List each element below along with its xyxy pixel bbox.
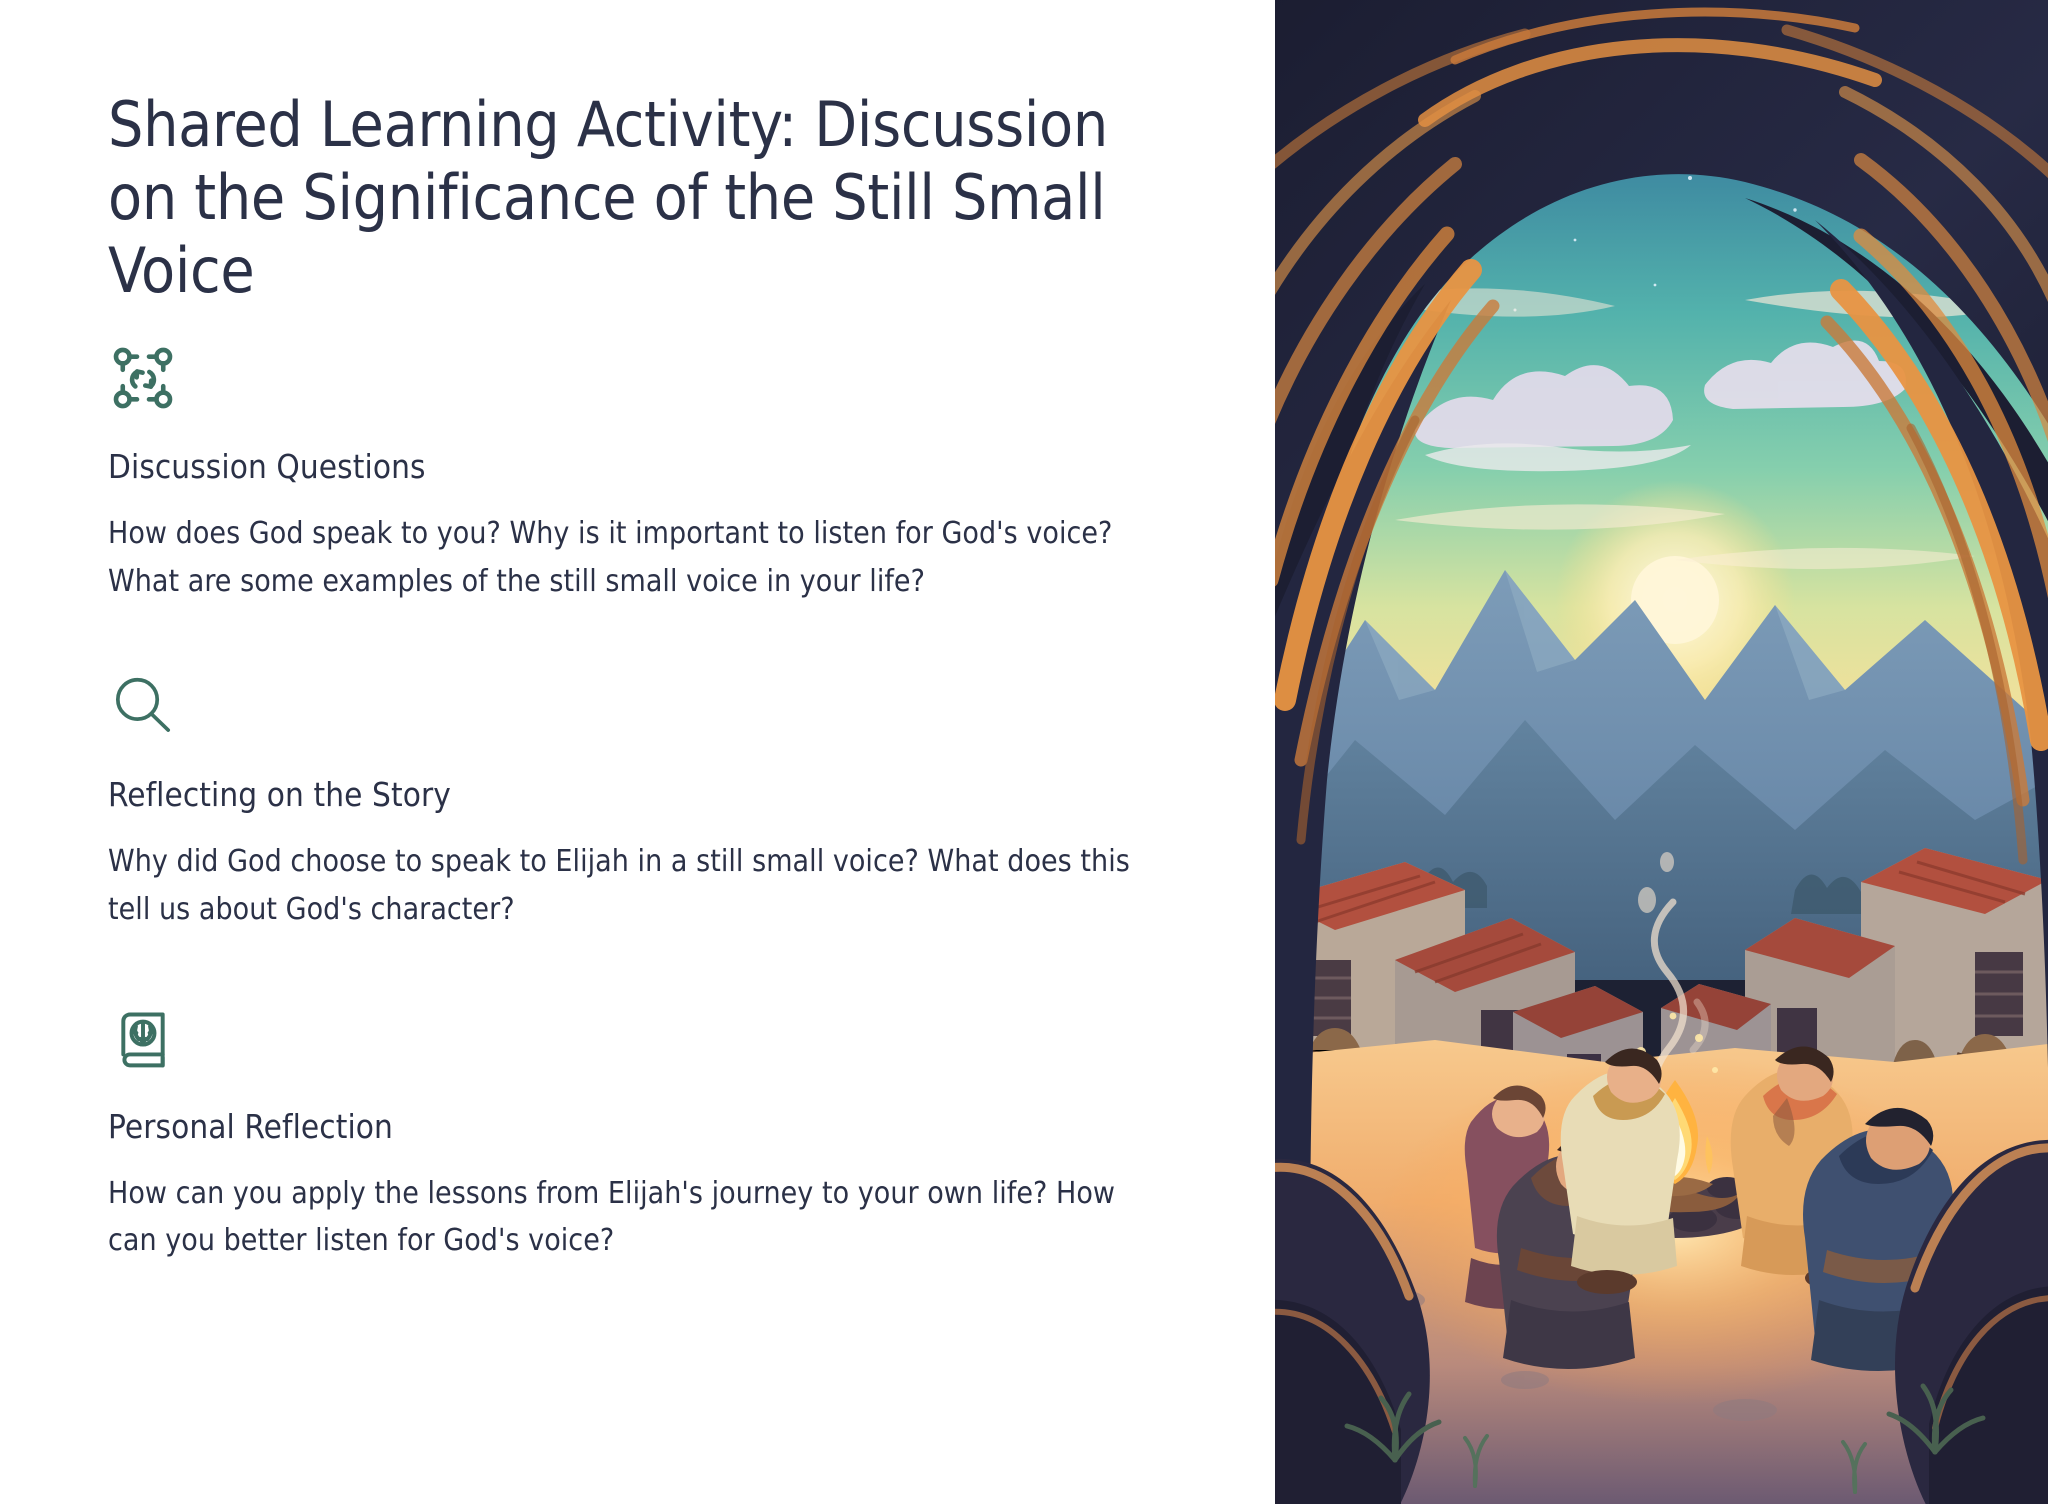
content-column: Shared Learning Activity: Discussion on …	[0, 0, 1275, 1504]
section-heading: Personal Reflection	[108, 1107, 1155, 1146]
section-discussion-questions: Discussion Questions How does God speak …	[108, 343, 1155, 605]
section-reflecting-on-the-story: Reflecting on the Story Why did God choo…	[108, 671, 1155, 933]
section-heading: Reflecting on the Story	[108, 775, 1155, 814]
page-title: Shared Learning Activity: Discussion on …	[108, 88, 1128, 307]
section-heading: Discussion Questions	[108, 447, 1155, 486]
section-personal-reflection: Personal Reflection How can you apply th…	[108, 1003, 1155, 1265]
page-root: Shared Learning Activity: Discussion on …	[0, 0, 2048, 1504]
section-body: How can you apply the lessons from Elija…	[108, 1170, 1148, 1265]
book-emblem-icon	[108, 1003, 178, 1073]
magnifying-glass-icon	[108, 671, 178, 741]
section-body: Why did God choose to speak to Elijah in…	[108, 838, 1148, 933]
section-body: How does God speak to you? Why is it imp…	[108, 510, 1148, 605]
group-exchange-icon	[108, 343, 178, 413]
cave-mouth-campfire-village-illustration	[1275, 0, 2048, 1504]
